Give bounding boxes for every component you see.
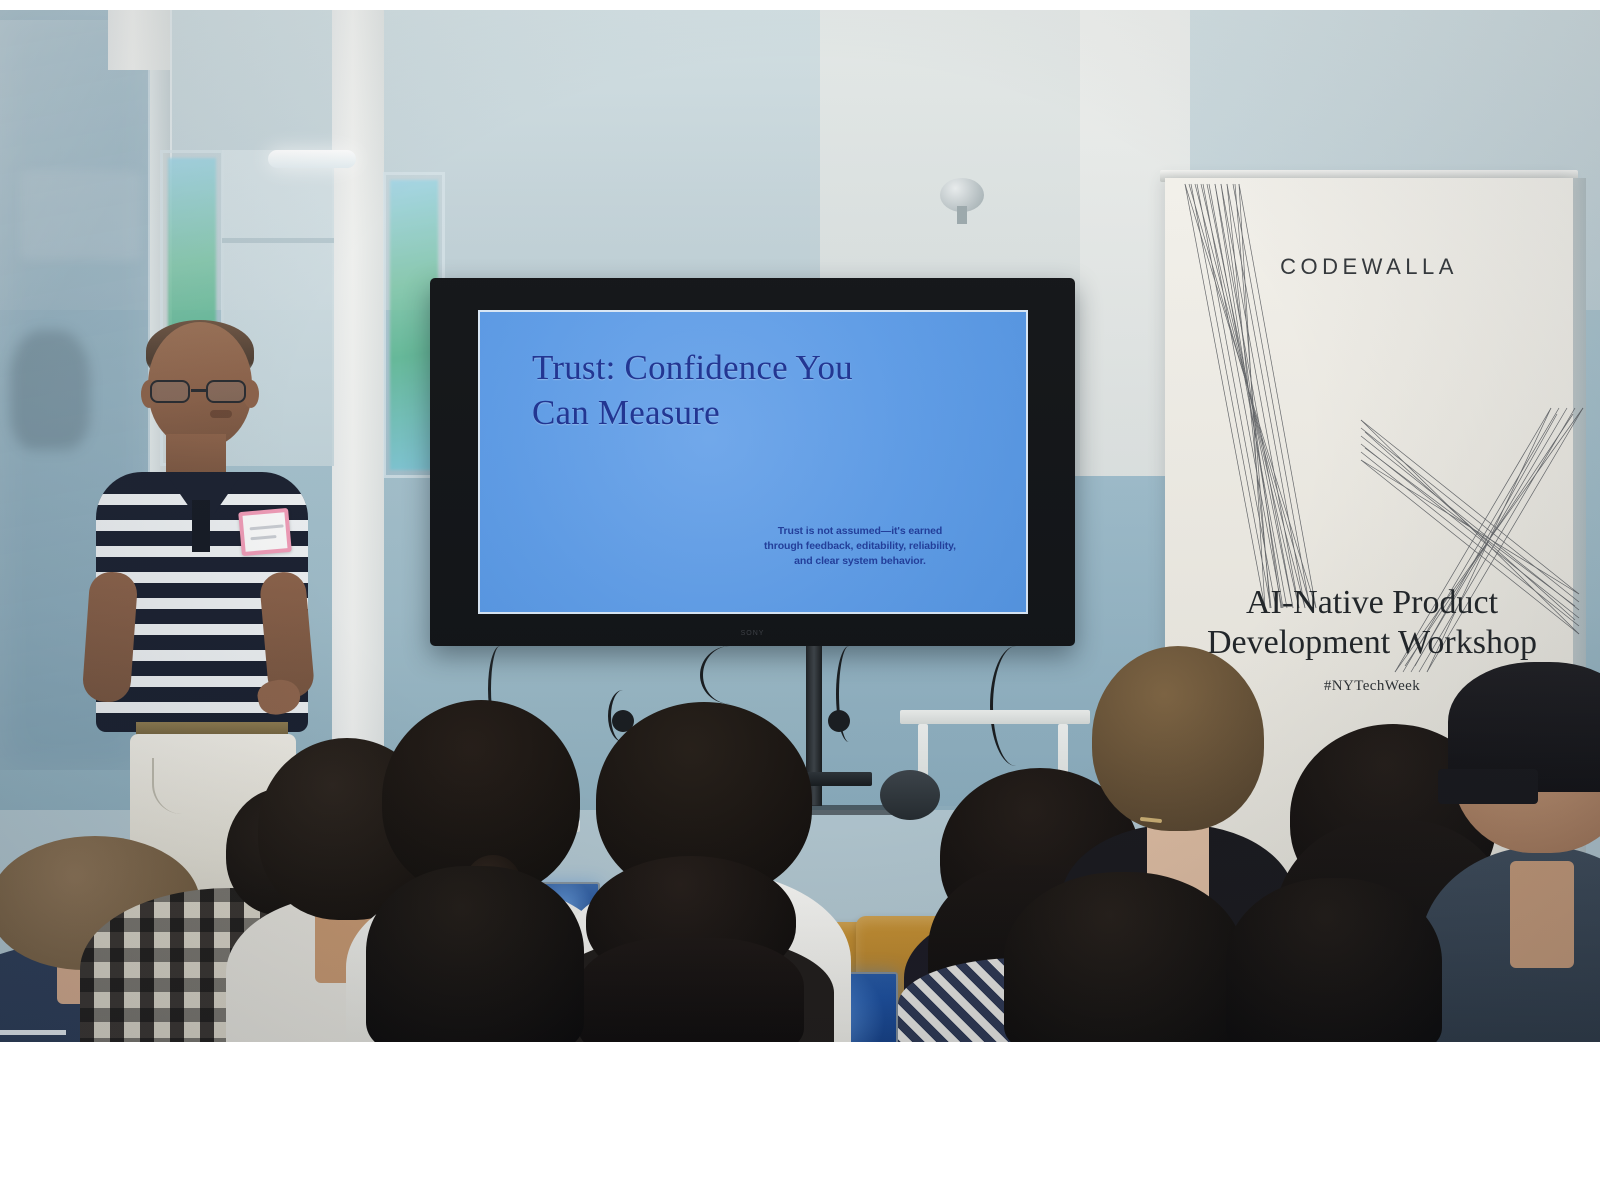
glasses-bridge [191,389,207,392]
attendee-front-right-dark [1004,872,1244,1042]
banner-heading-line-1: AI-Native Product [1171,583,1573,623]
slide-caption-line-1: Trust is not assumed—it's earned [735,524,985,539]
slide-title: Trust: Confidence You Can Measure [532,346,972,436]
attendee-long-hair [578,938,805,1042]
slide-surface: Trust: Confidence You Can Measure Trust … [480,312,1026,612]
glass-reflection-figure [10,330,90,450]
wall-speaker-mount [957,206,967,224]
tv-screen: Trust: Confidence You Can Measure Trust … [478,310,1028,614]
attendee-head [1092,646,1264,831]
cable-mid [700,646,760,704]
event-photo: Trust: Confidence You Can Measure Trust … [0,10,1600,1042]
banner-logo: CODEWALLA [1165,254,1573,280]
cap-brim-icon [1438,769,1539,803]
monitor-back [880,770,940,820]
attendee-front-left-dark [366,866,584,1042]
attendee-backwards-cap [1452,670,1600,1042]
glasses-icon [150,380,254,404]
slide-caption-line-2: through feedback, editability, reliabili… [735,539,985,554]
slide-title-line-1: Trust: Confidence You [532,346,972,391]
wall-column [332,10,384,750]
attendee-neck [1510,861,1575,968]
slide-caption: Trust is not assumed—it's earned through… [735,524,985,570]
side-desk [900,710,1090,724]
screenshot-canvas: Trust: Confidence You Can Measure Trust … [0,0,1600,1200]
presenter-mouth [210,410,232,418]
attendee-striped-collar [0,1022,66,1042]
glasses-lens-right [206,380,246,403]
cable-far-right [990,646,1042,766]
name-badge [238,508,292,556]
attendee-long-hair-center [586,856,796,1042]
slide-caption-line-3: and clear system behavior. [735,554,985,569]
attendee-head [366,866,584,1042]
glasses-lens-left [150,380,190,403]
wall-column-top [108,10,170,70]
shirt-placket [192,500,210,552]
attendee-front-center-dark [1226,878,1442,1042]
banner-line-art-left [1175,178,1375,628]
presentation-display: Trust: Confidence You Can Measure Trust … [430,278,1075,646]
window-transom [222,238,334,243]
attendee-head [1226,878,1442,1042]
ceiling-light-icon [268,150,356,168]
attendee-head [1004,872,1244,1042]
cable-coil-icon-2 [828,710,850,732]
tv-brand-label: SONY [741,630,765,637]
glass-reflection-panel [20,170,140,260]
presenter-arm-left [82,570,139,703]
slide-title-line-2: Can Measure [532,391,972,436]
name-badge-line [250,535,276,540]
name-badge-line [250,524,284,530]
